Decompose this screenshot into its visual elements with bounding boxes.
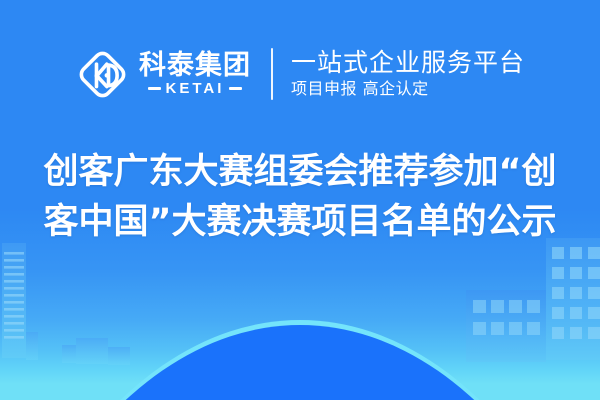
company-name-en: KETAI [166, 81, 225, 96]
ketai-diamond-monogram-logo-icon [75, 47, 130, 102]
slogan-sub-text: 项目申报 高企认定 [291, 81, 525, 98]
arc-fill [0, 325, 600, 400]
banner-header: 科泰集团 KETAI 一站式企业服务平台 项目申报 高企认定 [0, 38, 600, 110]
header-divider [271, 48, 273, 100]
brand-wordmark: 科泰集团 KETAI [139, 52, 251, 96]
slogan-block: 一站式企业服务平台 项目申报 高企认定 [291, 50, 525, 97]
company-name-cn: 科泰集团 [139, 52, 251, 79]
slogan-main-text: 一站式企业服务平台 [291, 50, 525, 76]
brand-lockup[interactable]: 科泰集团 KETAI [75, 47, 251, 102]
bottom-curved-band [0, 290, 600, 400]
rule-left-icon [148, 87, 161, 90]
company-name-en-row: KETAI [139, 81, 251, 96]
rule-right-icon [229, 87, 242, 90]
page-title: 创客广东大赛组委会推荐参加“创客中国”大赛决赛项目名单的公示 [40, 148, 560, 247]
promo-banner: 科泰集团 KETAI 一站式企业服务平台 项目申报 高企认定 创客广东大赛组委会… [0, 0, 600, 400]
